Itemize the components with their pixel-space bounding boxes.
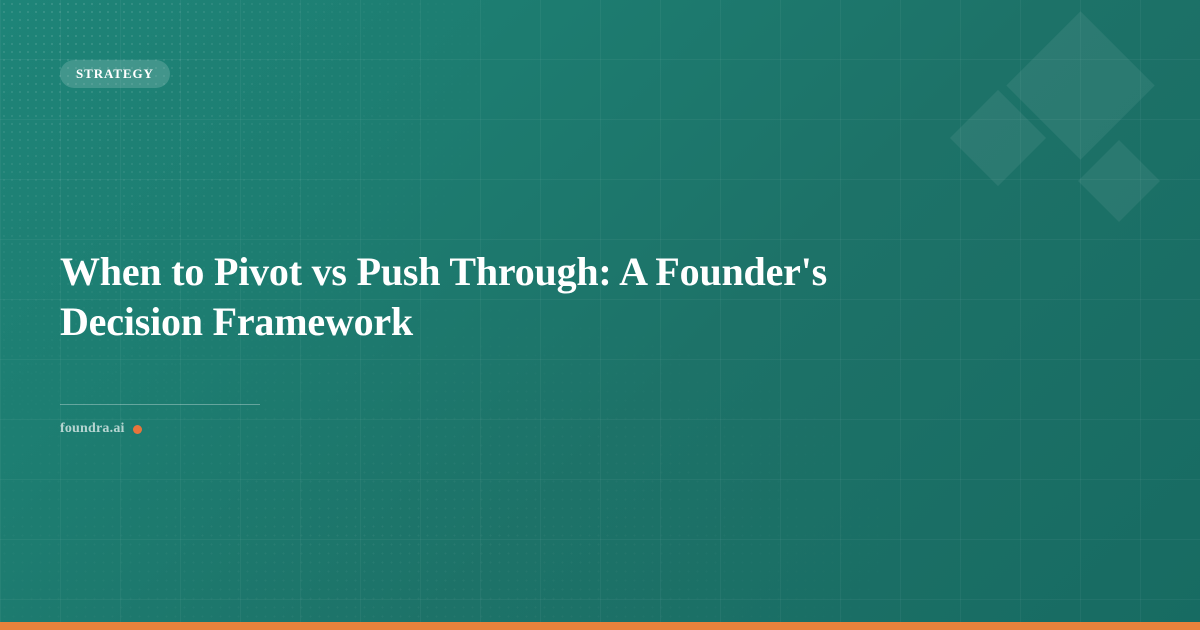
page-title: When to Pivot vs Push Through: A Founder…: [60, 247, 970, 347]
brand-name-label: foundra.ai: [60, 421, 125, 437]
card-content: STRATEGY When to Pivot vs Push Through: …: [60, 0, 1060, 630]
decorative-diamond-small: [1078, 140, 1160, 222]
bottom-accent-bar: [0, 622, 1200, 630]
brand-lockup: foundra.ai: [60, 421, 142, 437]
brand-dot-icon: [133, 425, 142, 434]
divider: [60, 404, 260, 405]
og-social-card: STRATEGY When to Pivot vs Push Through: …: [0, 0, 1200, 630]
category-badge: STRATEGY: [60, 60, 170, 88]
